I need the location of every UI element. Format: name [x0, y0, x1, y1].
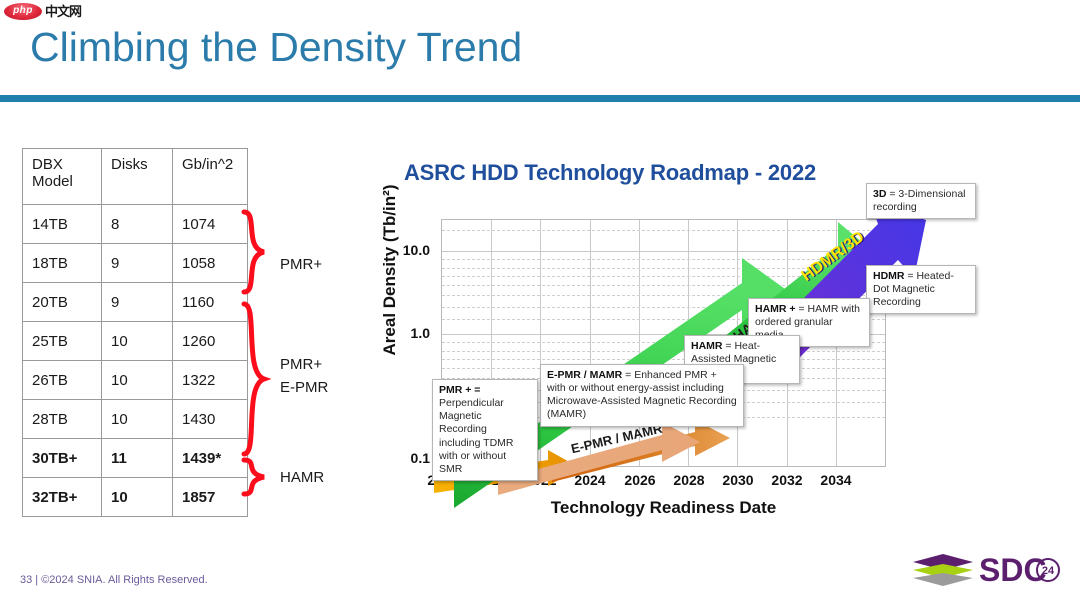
table-row: 32TB+ 10 1857	[23, 478, 248, 517]
cell-disks: 9	[102, 283, 173, 322]
y-tick-10: 10.0	[382, 242, 430, 258]
callout-term: HDMR	[873, 270, 905, 282]
table-row: 14TB 8 1074	[23, 205, 248, 244]
cell-density: 1439*	[173, 439, 248, 478]
table-row: 28TB 10 1430	[23, 400, 248, 439]
php-watermark: php 中文网	[4, 2, 90, 20]
column-header-density: Gb/in^2	[173, 149, 248, 205]
cell-model: 28TB	[23, 400, 102, 439]
brace-label-pmr-plus-epmr: PMR+ E-PMR	[280, 354, 328, 399]
callout-term: HAMR +	[755, 303, 796, 315]
cell-density: 1058	[173, 244, 248, 283]
gridline-vertical	[540, 220, 541, 466]
x-tick-2024: 2024	[565, 472, 615, 488]
table-row: 25TB 10 1260	[23, 322, 248, 361]
column-header-dbx-model: DBX Model	[23, 149, 102, 205]
x-tick-2028: 2028	[664, 472, 714, 488]
table-row: 26TB 10 1322	[23, 361, 248, 400]
gridline-minor	[442, 230, 885, 231]
dbx-model-table: DBX Model Disks Gb/in^2 14TB 8 1074 18TB…	[22, 148, 248, 517]
callout-term: E-PMR / MAMR	[547, 369, 622, 381]
cell-disks: 10	[102, 478, 173, 517]
cell-density: 1160	[173, 283, 248, 322]
gridline-major-10	[442, 251, 885, 252]
brace-label-pmr-plus: PMR+	[280, 254, 322, 277]
x-tick-2034: 2034	[811, 472, 861, 488]
x-axis-title: Technology Readiness Date	[441, 498, 886, 518]
sdc-logo-stack-icon	[913, 554, 973, 586]
brace-pmr-plus-epmr	[238, 300, 272, 458]
cell-model: 25TB	[23, 322, 102, 361]
cell-model: 20TB	[23, 283, 102, 322]
x-tick-2032: 2032	[762, 472, 812, 488]
table-row: 18TB 9 1058	[23, 244, 248, 283]
footer-copyright: 33 | ©2024 SNIA. All Rights Reserved.	[20, 574, 208, 586]
cell-disks: 10	[102, 322, 173, 361]
callout-epmr-mamr: E-PMR / MAMR = Enhanced PMR + with or wi…	[540, 364, 744, 427]
gridline-vertical	[590, 220, 591, 466]
brace-pmr-plus	[238, 208, 272, 296]
gridline-minor	[442, 351, 885, 352]
cell-density: 1322	[173, 361, 248, 400]
callout-term: HAMR	[691, 340, 723, 352]
callout-text: = 3-Dimensional recording	[873, 188, 966, 213]
y-tick-1: 1.0	[382, 325, 430, 341]
cell-model: 26TB	[23, 361, 102, 400]
brace-label-hamr: HAMR	[280, 467, 324, 490]
cell-density: 1857	[173, 478, 248, 517]
callout-3d: 3D = 3-Dimensional recording	[866, 183, 976, 219]
table-header-row: DBX Model Disks Gb/in^2	[23, 149, 248, 205]
chart-title: ASRC HDD Technology Roadmap - 2022	[330, 160, 890, 186]
cell-disks: 10	[102, 400, 173, 439]
cell-model: 30TB+	[23, 439, 102, 478]
column-header-disks: Disks	[102, 149, 173, 205]
callout-pmr-plus: PMR + = Perpendicular Magnetic Recording…	[432, 379, 538, 481]
x-tick-2026: 2026	[615, 472, 665, 488]
cell-model: 32TB+	[23, 478, 102, 517]
title-divider	[0, 95, 1080, 102]
cell-disks: 9	[102, 244, 173, 283]
gridline-minor	[442, 285, 885, 286]
cell-disks: 8	[102, 205, 173, 244]
callout-hdmr: HDMR = Heated-Dot Magnetic Recording	[866, 265, 976, 314]
y-axis-title: Areal Density (Tb/in²)	[380, 155, 400, 385]
cell-density: 1430	[173, 400, 248, 439]
gridline-minor	[442, 359, 885, 360]
callout-term: 3D	[873, 188, 886, 200]
cell-density: 1074	[173, 205, 248, 244]
cell-disks: 10	[102, 361, 173, 400]
brace-hamr	[238, 456, 272, 498]
callout-term: PMR + =	[439, 384, 480, 396]
table-row: 20TB 9 1160	[23, 283, 248, 322]
sdc-logo: SDC 24	[905, 548, 1065, 590]
cell-model: 18TB	[23, 244, 102, 283]
x-tick-2030: 2030	[713, 472, 763, 488]
cell-density: 1260	[173, 322, 248, 361]
sdc-logo-year: 24	[1042, 565, 1055, 577]
y-tick-0.1: 0.1	[382, 450, 430, 466]
table-row: 30TB+ 11 1439*	[23, 439, 248, 478]
callout-text: Perpendicular Magnetic Recording includi…	[439, 397, 514, 475]
cell-model: 14TB	[23, 205, 102, 244]
page-title: Climbing the Density Trend	[30, 24, 522, 71]
php-watermark-label: 中文网	[45, 5, 81, 18]
gridline-minor	[442, 295, 885, 296]
php-logo-badge: php	[4, 3, 42, 20]
cell-disks: 11	[102, 439, 173, 478]
